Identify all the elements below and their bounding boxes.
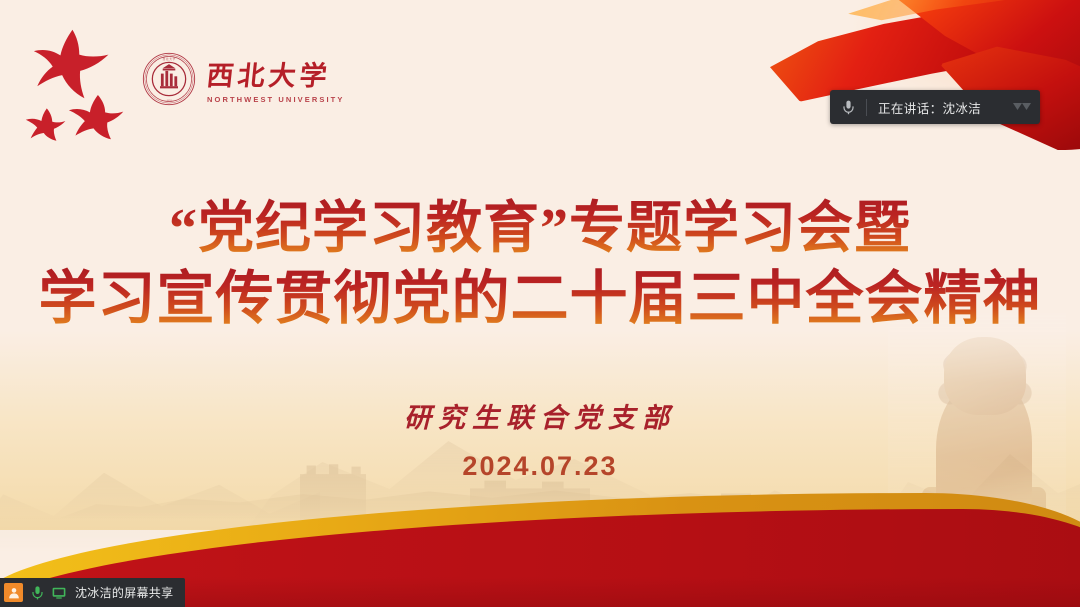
title-line-2: 学习宣传贯彻党的二十届三中全会精神	[0, 267, 1080, 332]
person-glyph	[8, 587, 20, 599]
university-name-cn: 西北大学	[205, 54, 333, 93]
speaker-label: 正在讲话：沈冰洁	[867, 98, 1004, 117]
dove-large-icon	[26, 28, 112, 100]
microphone-glyph	[32, 586, 43, 600]
branding-block: 西 北 大 学 1902 西北大学 NORTHWEST UNIVERSITY	[22, 28, 344, 146]
dove-small-icon	[24, 106, 66, 142]
screen-share-glyph	[52, 587, 66, 599]
dove-medium-icon	[66, 92, 124, 140]
peace-dove-icon	[22, 28, 126, 146]
person-avatar-icon	[4, 583, 23, 602]
slide-title: “党纪学习教育”专题学习会暨 学习宣传贯彻党的二十届三中全会精神	[0, 198, 1080, 332]
screen-share-icon[interactable]	[51, 585, 67, 601]
screen-share-bar[interactable]: 沈冰洁的屏幕共享	[0, 578, 185, 607]
slide-subtitle: 研究生联合党支部	[0, 396, 1080, 435]
university-wordmark: 西北大学 NORTHWEST UNIVERSITY	[207, 54, 344, 104]
svg-text:1902: 1902	[166, 100, 172, 103]
chevron-collapse-glyph	[1012, 101, 1032, 113]
university-seal-icon: 西 北 大 学 1902	[142, 52, 196, 106]
university-name-en: NORTHWEST UNIVERSITY	[207, 95, 344, 104]
title-line-1: “党纪学习教育”专题学习会暨	[0, 198, 1080, 261]
screen-share-stage: 西 北 大 学 1902 西北大学 NORTHWEST UNIVERSITY “…	[0, 0, 1080, 607]
chevron-collapse-icon[interactable]	[1004, 101, 1040, 113]
active-speaker-overlay[interactable]: 正在讲话：沈冰洁	[830, 90, 1040, 124]
university-logo: 西 北 大 学 1902 西北大学 NORTHWEST UNIVERSITY	[142, 52, 344, 106]
microphone-glyph	[843, 100, 854, 115]
microphone-icon	[830, 100, 866, 115]
svg-text:西 北 大 学: 西 北 大 学	[163, 57, 176, 61]
share-bar-label: 沈冰洁的屏幕共享	[75, 584, 173, 601]
microphone-icon[interactable]	[29, 585, 45, 601]
